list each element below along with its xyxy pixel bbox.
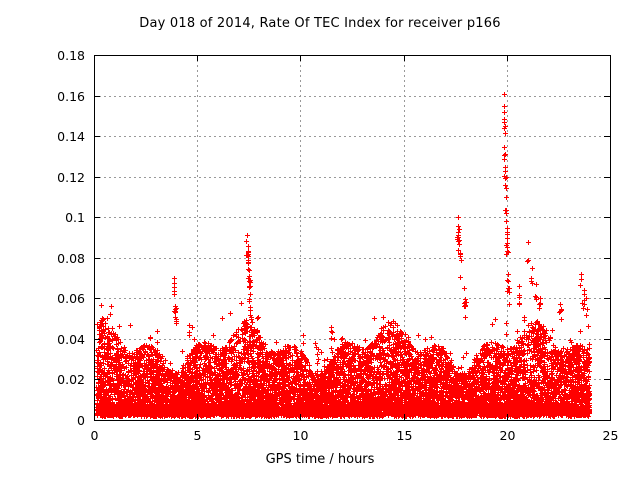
svg-text:0.04: 0.04	[57, 332, 85, 347]
svg-text:25: 25	[603, 428, 619, 443]
svg-text:0.06: 0.06	[57, 291, 85, 306]
data-points	[94, 92, 592, 419]
svg-text:5: 5	[194, 428, 202, 443]
svg-text:0.1: 0.1	[65, 210, 85, 225]
svg-text:10: 10	[293, 428, 309, 443]
svg-text:0.02: 0.02	[57, 372, 85, 387]
svg-text:0: 0	[91, 428, 99, 443]
svg-text:0: 0	[77, 413, 85, 428]
svg-text:0.16: 0.16	[57, 89, 85, 104]
svg-text:0.14: 0.14	[57, 129, 85, 144]
svg-text:15: 15	[397, 428, 413, 443]
svg-text:0.18: 0.18	[57, 48, 85, 63]
y-tick-labels: 00.020.040.060.080.10.120.140.160.18	[57, 48, 85, 428]
plot-area: 0510152025 00.020.040.060.080.10.120.140…	[0, 0, 640, 480]
svg-text:0.08: 0.08	[57, 251, 85, 266]
svg-text:20: 20	[500, 428, 516, 443]
x-tick-labels: 0510152025	[91, 428, 619, 443]
svg-text:0.12: 0.12	[57, 170, 85, 185]
x-axis-label: GPS time / hours	[0, 452, 640, 467]
chart-canvas: Day 018 of 2014, Rate Of TEC Index for r…	[0, 0, 640, 480]
